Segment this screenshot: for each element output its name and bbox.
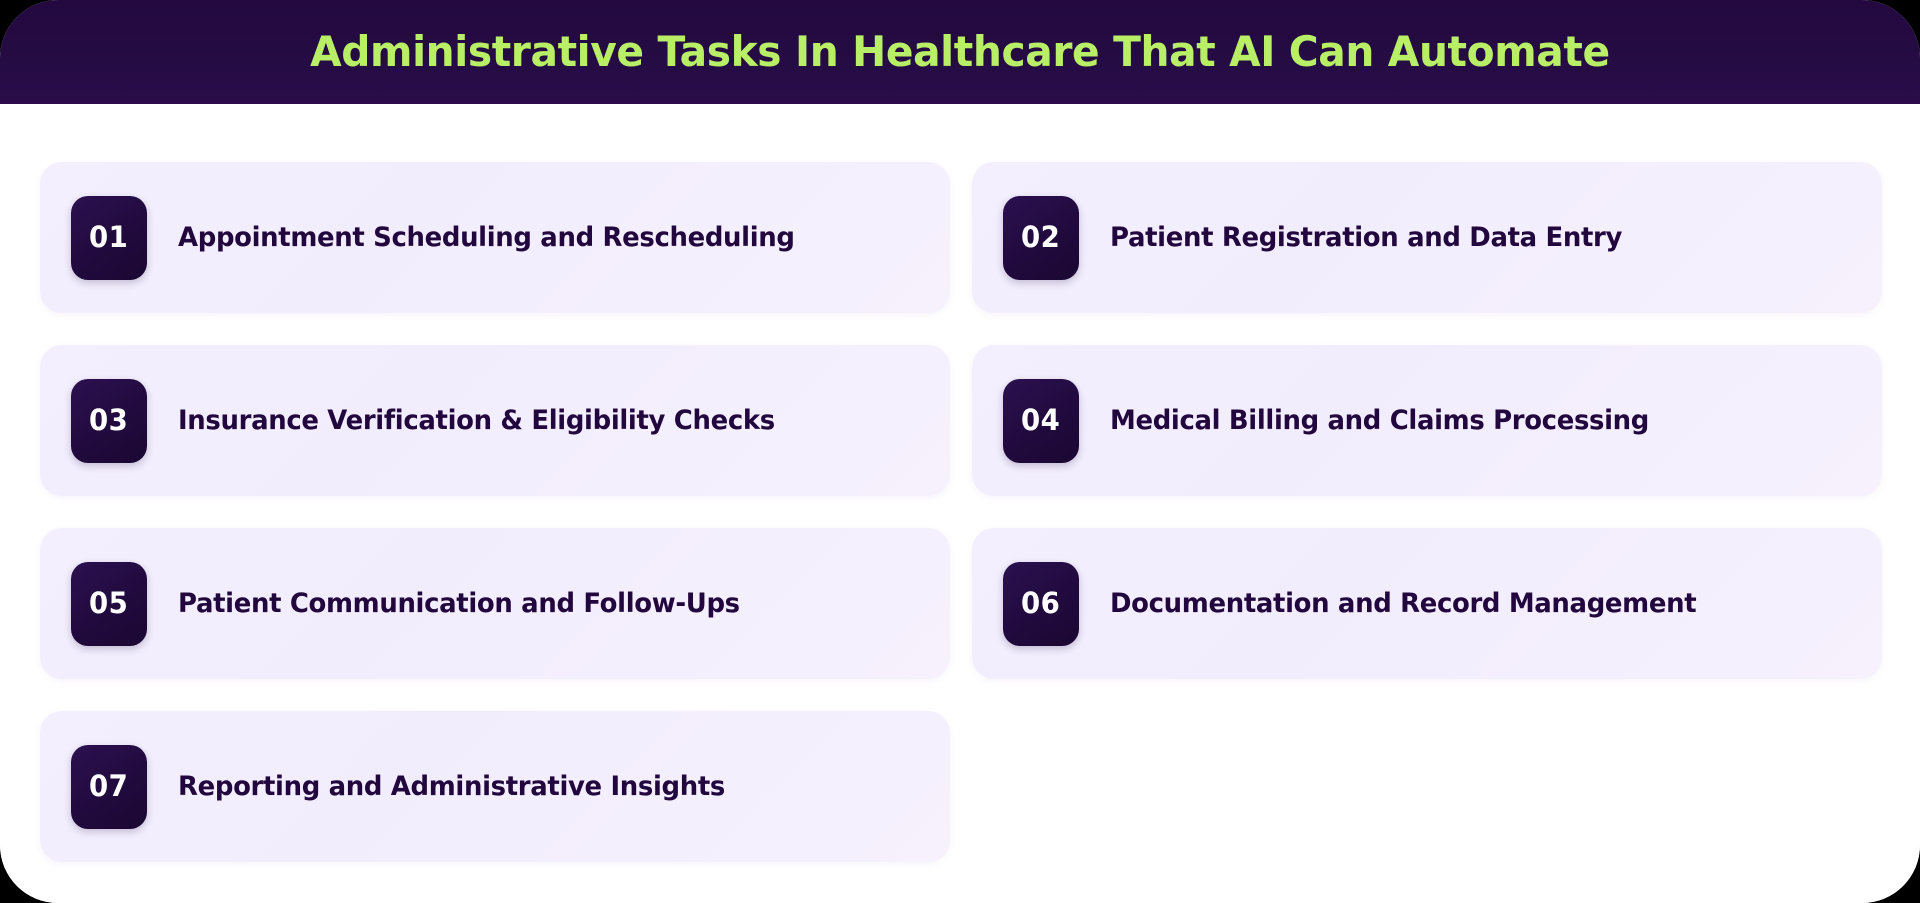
badge-number-label: 06 — [1021, 589, 1060, 618]
task-card-04[interactable]: 04 Medical Billing and Claims Processing — [972, 345, 1882, 496]
task-label-02: Patient Registration and Data Entry — [1110, 222, 1622, 253]
task-card-07[interactable]: 07 Reporting and Administrative Insights — [40, 711, 950, 862]
task-label-06: Documentation and Record Management — [1110, 588, 1696, 619]
header-banner: Administrative Tasks In Healthcare That … — [0, 0, 1920, 104]
badge-number-label: 01 — [89, 223, 128, 252]
infographic-page: Administrative Tasks In Healthcare That … — [0, 0, 1920, 903]
badge-number-label: 02 — [1021, 223, 1060, 252]
number-badge-04: 04 — [1003, 379, 1079, 463]
task-card-03[interactable]: 03 Insurance Verification & Eligibility … — [40, 345, 950, 496]
task-label-01: Appointment Scheduling and Rescheduling — [178, 222, 795, 253]
number-badge-03: 03 — [71, 379, 147, 463]
number-badge-06: 06 — [1003, 562, 1079, 646]
task-list-area: 01 Appointment Scheduling and Rescheduli… — [0, 104, 1920, 903]
badge-number-label: 04 — [1021, 406, 1060, 435]
task-grid: 01 Appointment Scheduling and Rescheduli… — [40, 162, 1880, 862]
number-badge-05: 05 — [71, 562, 147, 646]
task-card-01[interactable]: 01 Appointment Scheduling and Rescheduli… — [40, 162, 950, 313]
task-card-06[interactable]: 06 Documentation and Record Management — [972, 528, 1882, 679]
number-badge-02: 02 — [1003, 196, 1079, 280]
badge-number-label: 03 — [89, 406, 128, 435]
task-label-07: Reporting and Administrative Insights — [178, 771, 725, 802]
task-card-02[interactable]: 02 Patient Registration and Data Entry — [972, 162, 1882, 313]
task-label-05: Patient Communication and Follow-Ups — [178, 588, 740, 619]
number-badge-01: 01 — [71, 196, 147, 280]
badge-number-label: 05 — [89, 589, 128, 618]
number-badge-07: 07 — [71, 745, 147, 829]
page-title: Administrative Tasks In Healthcare That … — [310, 31, 1610, 73]
badge-number-label: 07 — [89, 772, 128, 801]
task-label-04: Medical Billing and Claims Processing — [1110, 405, 1649, 436]
task-card-05[interactable]: 05 Patient Communication and Follow-Ups — [40, 528, 950, 679]
task-label-03: Insurance Verification & Eligibility Che… — [178, 405, 775, 436]
